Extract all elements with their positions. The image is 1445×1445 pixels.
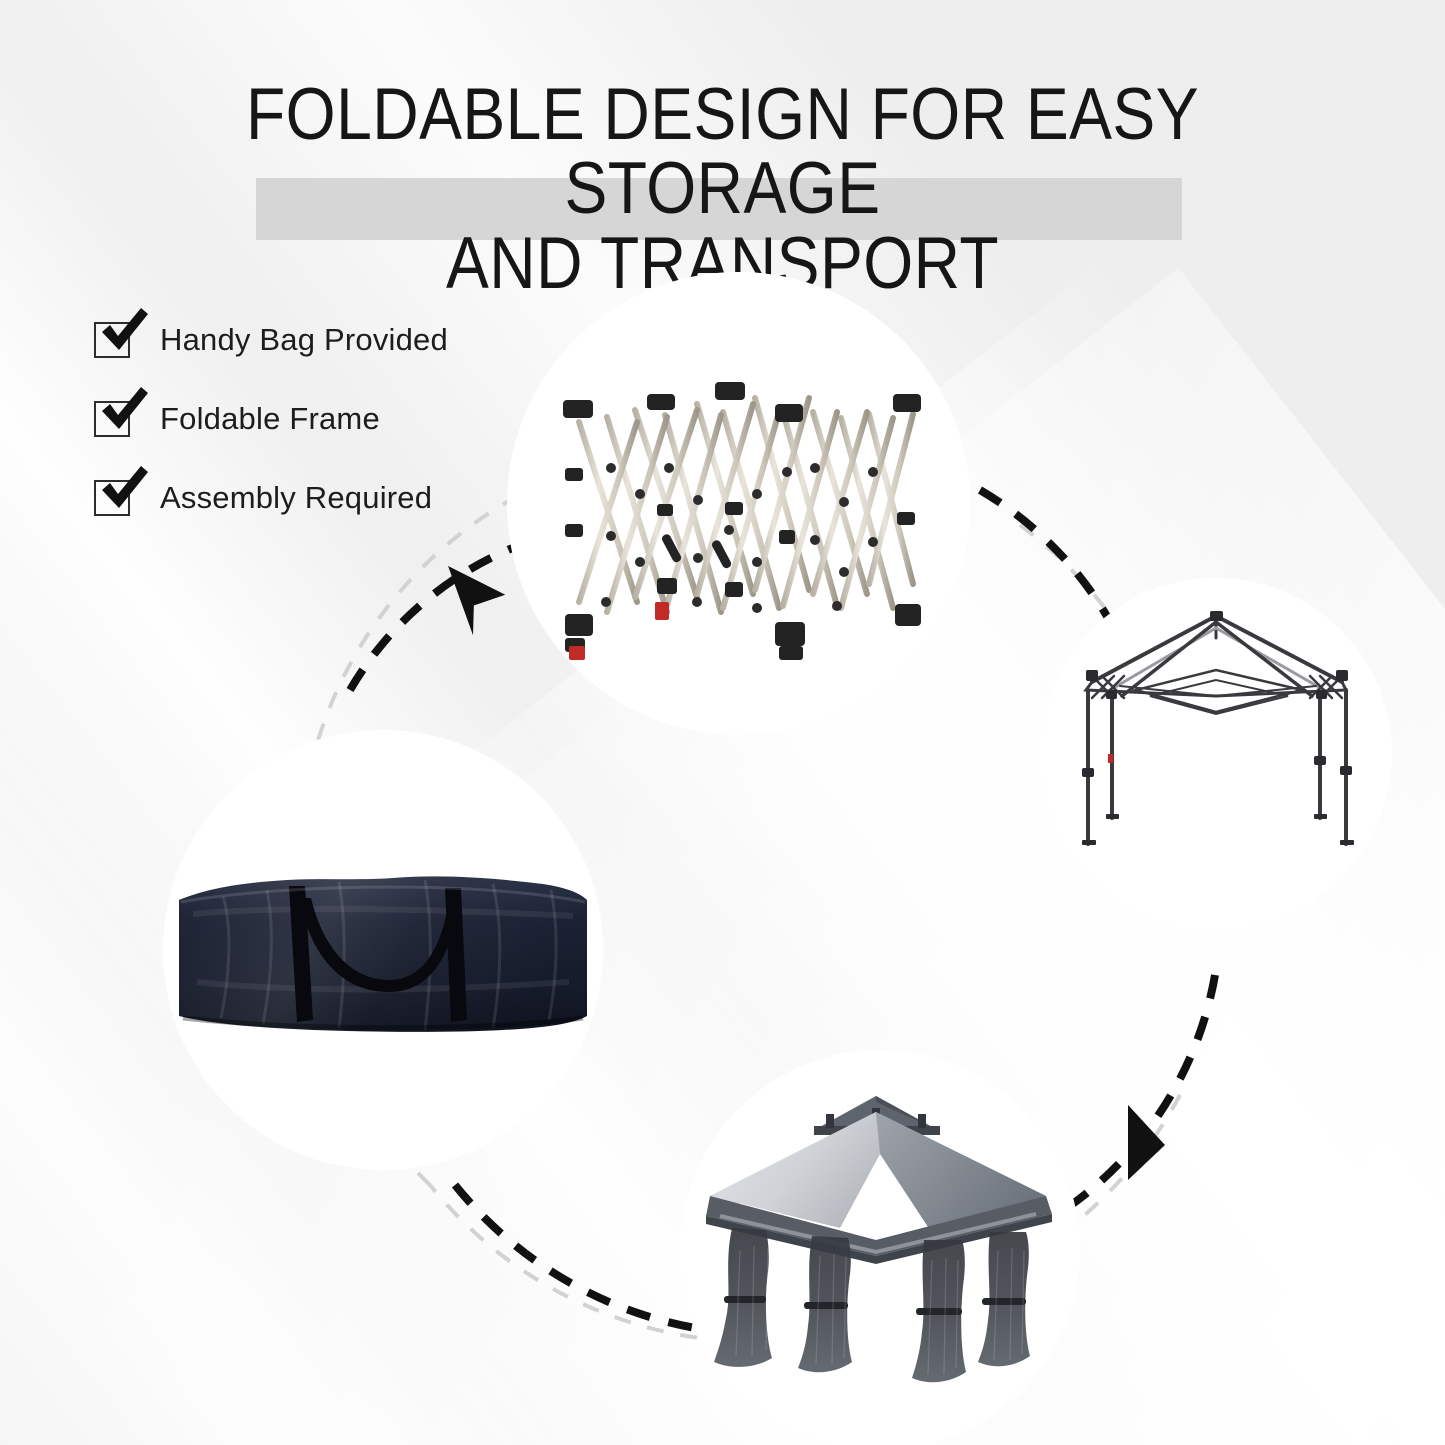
feature-list: Handy Bag Provided Foldable Frame Assemb…	[94, 318, 514, 555]
checkbox-icon	[94, 480, 130, 516]
gallery-circle-folded-frame	[507, 272, 970, 735]
checkbox-icon	[94, 401, 130, 437]
expanded-frame-photo	[1040, 578, 1392, 930]
gallery-circle-assembled-gazebo	[680, 1050, 1080, 1445]
gallery-circle-carry-bag	[163, 730, 603, 1170]
list-item-label: Assembly Required	[160, 476, 432, 520]
list-item: Assembly Required	[94, 476, 514, 536]
infographic-page: FOLDABLE DESIGN FOR EASY STORAGE AND TRA…	[0, 0, 1445, 1445]
gallery-circle-expanded-frame	[1040, 578, 1392, 930]
list-item: Handy Bag Provided	[94, 318, 514, 378]
assembled-gazebo-photo	[680, 1050, 1080, 1445]
list-item-label: Handy Bag Provided	[160, 318, 448, 362]
folded-frame-photo	[507, 272, 970, 735]
page-title: FOLDABLE DESIGN FOR EASY STORAGE AND TRA…	[140, 78, 1306, 301]
carry-bag-photo	[163, 730, 603, 1170]
list-item-label: Foldable Frame	[160, 397, 380, 441]
list-item: Foldable Frame	[94, 397, 514, 457]
checkbox-icon	[94, 322, 130, 358]
